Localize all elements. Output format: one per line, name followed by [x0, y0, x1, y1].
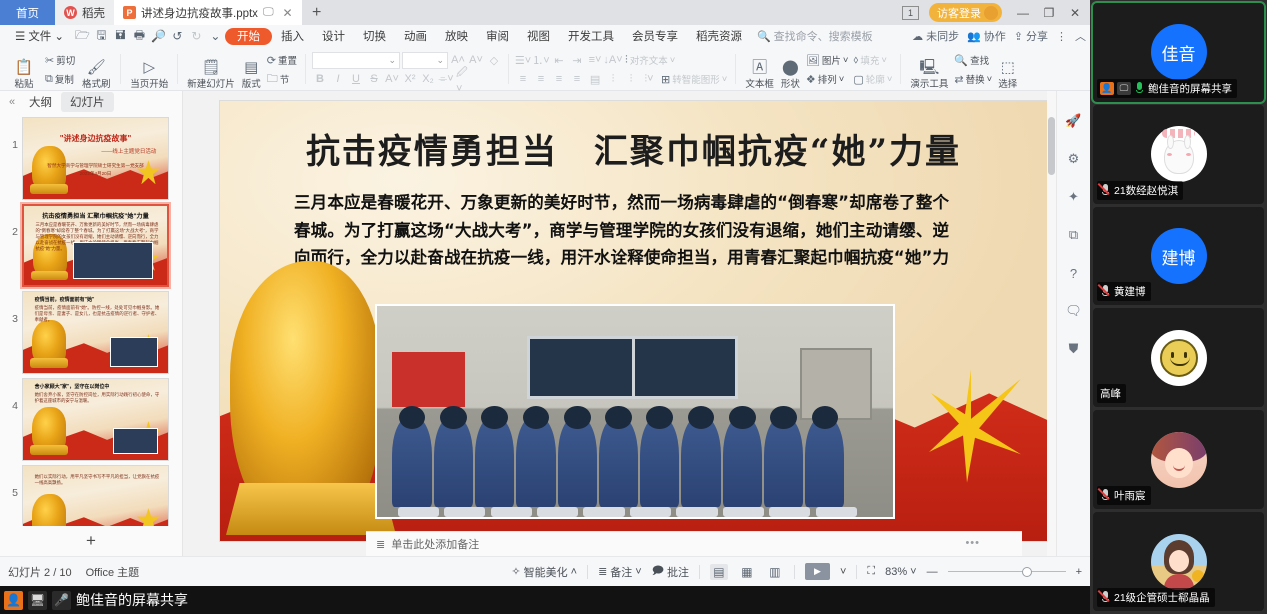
select-icon: ⬚: [1001, 60, 1015, 75]
thumbnail-row[interactable]: 4 舍小家顾大"家"，坚守在以岗位中 她们舍弃小家，坚守在防控岗位，用实际行动践…: [0, 374, 182, 461]
divider: [177, 54, 178, 84]
slide-thumbnail-3[interactable]: 疫情当前，疫情面前有"她" 疫情当前，疫情面前有“她”。防控一线，处处可见巾帼身…: [22, 291, 169, 374]
hamburger-icon: ☰: [15, 29, 25, 43]
screen-share-icon[interactable]: ⧉: [1064, 225, 1084, 245]
slide-thumbnail-panel: « 大纲 幻灯片 1 "讲述身边抗疫故事" ——线上主题党日活动 智然大学商学与…: [0, 91, 183, 556]
font-group: ⌄ ⌄ A˄ A˅ ◇ B I U S A˅ X² X₂ ⌯˅: [309, 48, 505, 90]
underline-button[interactable]: U: [348, 71, 364, 88]
highlight-icon[interactable]: 🖉˅: [456, 71, 472, 88]
tab-member[interactable]: 会员专享: [623, 27, 687, 45]
char-shading-icon[interactable]: ⌯˅: [438, 71, 454, 88]
format-painter-button[interactable]: 🖌格式刷: [78, 50, 114, 90]
superscript-button[interactable]: X²: [402, 71, 418, 88]
fit-to-window-icon: ⛶: [867, 565, 875, 578]
zoom-slider-knob[interactable]: [1022, 567, 1032, 577]
notes-placeholder: 单击此处添加备注: [391, 536, 479, 552]
normal-view-icon[interactable]: ▤: [710, 564, 728, 580]
current-slide[interactable]: 抗击疫情勇担当 汇聚巾帼抗疫“她”力量 三月本应是春暖花开、万象更新的美好时节，…: [220, 101, 1047, 541]
zoom-in-button[interactable]: +: [1076, 566, 1082, 578]
pptx-file-icon: P: [123, 6, 136, 19]
microphone-muted-icon: [1100, 285, 1111, 298]
align-left-icon[interactable]: ≡: [515, 71, 531, 88]
start-from-current-button[interactable]: ▷当页开始: [127, 50, 171, 90]
thumbnail-number: 1: [4, 117, 18, 151]
avatar: 佳音: [1151, 24, 1207, 80]
collaborate-button[interactable]: 👥协作: [967, 28, 1006, 44]
chevron-down-icon: ˅: [910, 566, 916, 578]
fit-to-window-button[interactable]: ⛶: [867, 565, 875, 578]
thumb-meta2: 2022年4月20日: [23, 171, 168, 177]
open-icon[interactable]: 🗁: [73, 27, 92, 45]
save-as-icon[interactable]: 🖬: [111, 27, 130, 45]
line-spacing-icon[interactable]: ≡˅: [587, 52, 603, 69]
play-circle-icon: ▷: [143, 60, 155, 75]
tab-slideshow[interactable]: 放映: [436, 27, 477, 45]
smartart-icon: ⊞: [661, 73, 670, 86]
notes-icon: ≣: [598, 565, 607, 578]
tab-outline[interactable]: 大纲: [20, 92, 61, 112]
drawing-group: 🄰文本框 ⬤形状 🖼图片˅ ❖排列˅ ⬨填充˅ ▢轮廓˅: [739, 48, 897, 90]
align-text-button[interactable]: ⫶对齐文本˅: [623, 52, 677, 69]
guest-login-button[interactable]: 访客登录: [929, 3, 1002, 22]
zoom-slider[interactable]: [948, 565, 1066, 579]
paste-button[interactable]: 📋粘贴: [6, 50, 42, 90]
section-icon: 🗀: [267, 70, 278, 89]
font-size-input[interactable]: ⌄: [402, 52, 448, 69]
collapse-panel-icon[interactable]: «: [4, 96, 20, 108]
clipboard-group: 📋粘贴 ✂剪切 ⧉复制 🖌格式刷: [3, 48, 117, 90]
arrange-button[interactable]: ❖排列˅: [804, 71, 851, 88]
golden-lion-decoration: [230, 261, 380, 521]
magic-beautify-icon: ✧: [511, 565, 520, 578]
window-controls: 1 访客登录 — ❐ ✕: [902, 0, 1090, 25]
search-placeholder: 查找命令、搜索模板: [774, 28, 873, 44]
tab-resources[interactable]: 稻壳资源: [687, 27, 751, 45]
minimize-button[interactable]: —: [1010, 0, 1036, 25]
collapse-ribbon-icon[interactable]: ︿: [1075, 28, 1086, 44]
paste-icon: 📋: [15, 60, 34, 75]
participant-label: 高峰: [1097, 384, 1126, 403]
smiley-icon: [1160, 339, 1198, 377]
play-dropdown-icon[interactable]: ˅: [840, 566, 846, 578]
thumbnail-number: 2: [4, 204, 18, 238]
new-slide-icon: 🗒: [201, 60, 220, 75]
tab-view[interactable]: 视图: [518, 27, 559, 45]
microphone-icon[interactable]: 🎤: [52, 591, 71, 610]
tab-slides[interactable]: 幻灯片: [61, 92, 114, 112]
comment-icon: 🗩: [652, 562, 664, 581]
undo-icon[interactable]: ↺: [168, 27, 187, 45]
right-tool-rail: 🚀 ⚙ ✦ ⧉ ? 🗨 ⛊: [1056, 91, 1090, 556]
align-center-icon[interactable]: ≡: [533, 71, 549, 88]
convert-smartart-button[interactable]: ⊞转智能图形˅: [659, 71, 729, 88]
microphone-muted-icon: [1100, 489, 1111, 502]
search-icon: 🔍: [954, 54, 968, 67]
zoom-out-button[interactable]: —: [927, 566, 938, 578]
print-preview-icon[interactable]: 🔎: [149, 27, 168, 45]
numbering-icon[interactable]: ⒈˅: [533, 52, 549, 69]
thumb-photo: [73, 242, 153, 278]
align-right-icon[interactable]: ≡: [551, 71, 567, 88]
slide-thumbnail-2[interactable]: 抗击疫情勇担当 汇聚巾帼抗疫"她"力量 三月本应是春暖花开、万象更新的美好时节，…: [22, 204, 169, 287]
chevron-up-icon: ˄: [571, 566, 577, 578]
wps-logo-icon: W: [64, 6, 77, 19]
brush-icon: 🖌: [87, 60, 106, 75]
more-options-icon[interactable]: ⋮: [1056, 30, 1067, 43]
participant-label: 21数经赵悦淇: [1097, 181, 1183, 200]
document-tab-pptx[interactable]: P 讲述身边抗疫故事.pptx 🖵 ✕: [114, 0, 302, 25]
slideshow-group: ▷当页开始: [124, 48, 174, 90]
close-icon[interactable]: ✕: [283, 6, 293, 20]
participant-tile-4[interactable]: 叶雨宸: [1093, 410, 1264, 509]
vertical-scrollbar[interactable]: [1047, 91, 1056, 556]
participant-name: 黄建博: [1114, 284, 1146, 299]
scissors-icon: ✂: [45, 54, 54, 67]
document-tab-label: 稻壳: [82, 5, 105, 21]
sort-icon[interactable]: ↓A˅: [605, 52, 621, 69]
slide-thumbnail-5[interactable]: 她们以实际行动，用平凡坚守书写不平凡的担当，让党旗在抗疫一线高高飘扬。: [22, 465, 169, 526]
ribbon-menu-bar: ☰ 文件 ⌄ 🗁 🖫 🖬 🖶 🔎 ↺ ↻ ⌄ 开始 插入 设计 切换 动画 放映…: [0, 25, 1090, 47]
tab-cast-icon[interactable]: 🖵: [263, 6, 274, 19]
notes-pane[interactable]: ≣ 单击此处添加备注 •••: [366, 531, 1022, 556]
participant-name: 叶雨宸: [1114, 488, 1146, 503]
paragraph-group: ☰˅ ⒈˅ ⇤ ⇥ ≡˅ ↓A˅ ⫶对齐文本˅ ≡ ≡ ≡ ≡ ▤: [512, 48, 732, 90]
replace-button[interactable]: ⇄替换˅: [952, 71, 994, 88]
close-button[interactable]: ✕: [1062, 0, 1088, 25]
slide-canvas-area[interactable]: 抗击疫情勇担当 汇聚巾帼抗疫“她”力量 三月本应是春暖花开、万象更新的美好时节，…: [183, 91, 1056, 556]
indent-less-icon[interactable]: ⫶˅: [641, 71, 657, 88]
slide-title[interactable]: 抗击疫情勇担当 汇聚巾帼抗疫“她”力量: [220, 124, 1047, 173]
collaborate-icon: 👥: [967, 30, 981, 43]
add-slide-button[interactable]: +: [0, 526, 182, 556]
presentation-tools-button[interactable]: 🖳演示工具: [907, 50, 951, 90]
meeting-participant-panel: 佳音 👤 🖵 鲍佳音的屏幕共享 21数经赵悦淇 建博: [1090, 0, 1267, 614]
settings-sliders-icon[interactable]: ⚙: [1064, 149, 1084, 169]
slide-sorter-icon[interactable]: ▦: [738, 564, 756, 580]
editor-body: « 大纲 幻灯片 1 "讲述身边抗疫故事" ——线上主题党日活动 智然大学商学与…: [0, 91, 1090, 556]
magic-wand-icon[interactable]: ✦: [1064, 187, 1084, 207]
play-button[interactable]: ▶: [805, 563, 830, 580]
thumb-photo: [110, 337, 158, 366]
outline-icon: ▢: [853, 73, 863, 86]
italic-button[interactable]: I: [330, 71, 346, 88]
thumb-title: 疫情当前，疫情面前有"她": [35, 296, 95, 303]
section-button[interactable]: 🗀节: [265, 71, 299, 88]
thumb-title: "讲述身边抗疫故事": [23, 133, 168, 144]
participant-tile-3[interactable]: 高峰: [1093, 308, 1264, 407]
align-text-icon: ⫶: [625, 54, 628, 67]
participant-label: 叶雨宸: [1097, 486, 1151, 505]
clear-format-icon[interactable]: ◇: [486, 52, 502, 69]
justify-icon[interactable]: ≡: [569, 71, 585, 88]
notes-icon: ≣: [376, 538, 385, 551]
increase-indent-icon[interactable]: ⇥: [569, 52, 585, 69]
avatar: 建博: [1151, 228, 1207, 284]
tab-animation[interactable]: 动画: [395, 27, 436, 45]
decrease-indent-icon[interactable]: ⇤: [551, 52, 567, 69]
chevron-down-icon: ˅: [635, 566, 641, 578]
slides-group: 🗒新建幻灯片 ▤版式 ⟳重置 🗀节: [181, 48, 302, 90]
font-name-input[interactable]: ⌄: [312, 52, 400, 69]
thumb-title: 抗击疫情勇担当 汇聚巾帼抗疫"她"力量: [24, 211, 167, 220]
avatar: [1151, 330, 1207, 386]
divider: [735, 54, 736, 84]
search-icon: 🔍: [757, 30, 771, 43]
participant-name: 鲍佳音的屏幕共享: [1148, 81, 1232, 96]
cloud-sync-status[interactable]: ☁未同步: [912, 28, 959, 44]
thumbnail-number: 5: [4, 465, 18, 499]
select-button[interactable]: ⬚选择: [995, 50, 1020, 90]
thumbnail-row[interactable]: 2 抗击疫情勇担当 汇聚巾帼抗疫"她"力量 三月本应是春暖花开、万象更新的美好时…: [0, 200, 182, 287]
document-tab-daoke[interactable]: W 稻壳: [55, 0, 114, 25]
subscript-button[interactable]: X₂: [420, 71, 436, 88]
share-button[interactable]: ⇪分享: [1014, 28, 1048, 44]
thumbnail-row[interactable]: 5 她们以实际行动，用平凡坚守书写不平凡的担当，让党旗在抗疫一线高高飘扬。: [0, 461, 182, 526]
divider: [900, 54, 901, 84]
lion-base-decoration: [226, 483, 396, 535]
notes-more-icon[interactable]: •••: [965, 537, 980, 549]
avatar: [1151, 432, 1207, 488]
layout-icon: ▤: [244, 60, 258, 75]
screen-root: 首页 W 稻壳 P 讲述身边抗疫故事.pptx 🖵 ✕ + 1 访客登录 — ❐: [0, 0, 1267, 614]
avatar: [984, 6, 998, 20]
tab-design[interactable]: 设计: [313, 27, 354, 45]
security-icon[interactable]: ⛊: [1064, 339, 1084, 359]
share-icon: ⇪: [1014, 30, 1023, 43]
outline-button[interactable]: ▢轮廓˅: [851, 71, 894, 88]
tab-review[interactable]: 审阅: [477, 27, 518, 45]
copy-button[interactable]: ⧉复制: [43, 71, 77, 88]
reset-icon: ⟳: [267, 54, 276, 67]
notes-toggle-button[interactable]: ≣备注˅: [598, 564, 642, 580]
thumbnail-row[interactable]: 1 "讲述身边抗疫故事" ——线上主题党日活动 智然大学商学与管理学院硕士研究生…: [0, 113, 182, 200]
participant-tile-2[interactable]: 建博 黄建博: [1093, 207, 1264, 306]
shape-icon: ⬤: [782, 60, 799, 75]
zoom-level[interactable]: 83%˅: [885, 566, 916, 578]
slide-counter: 幻灯片 2 / 10: [8, 564, 72, 580]
search-input[interactable]: 🔍 查找命令、搜索模板: [757, 28, 873, 44]
microphone-icon: [1134, 82, 1145, 95]
bold-button[interactable]: B: [312, 71, 328, 88]
thumbnail-number: 3: [4, 291, 18, 325]
ribbon-toolbar: 📋粘贴 ✂剪切 ⧉复制 🖌格式刷 ▷当页开始 🗒新建幻灯片 ▤版式 ⟳重置 🗀节: [0, 47, 1090, 91]
participant-label: 21级企管硕士郗晶晶: [1097, 588, 1215, 607]
participant-name: 21级企管硕士郗晶晶: [1114, 590, 1210, 605]
screen-share-banner: 👤 🖥 🎤 鲍佳音的屏幕共享: [0, 586, 1090, 614]
thumbnail-number: 4: [4, 378, 18, 412]
participant-name: 高峰: [1100, 386, 1121, 401]
feedback-icon[interactable]: 🗨: [1064, 301, 1084, 321]
redo-icon[interactable]: ↻: [187, 27, 206, 45]
customize-toolbar-icon[interactable]: ⌄: [206, 27, 225, 45]
thumb-meta1: 智然大学商学与管理学院硕士研究生第一党支部: [23, 163, 168, 169]
thumb-photo: [113, 428, 158, 454]
strikethrough-button[interactable]: S: [366, 71, 382, 88]
textbox-icon: 🄰: [752, 60, 767, 75]
new-tab-button[interactable]: +: [302, 0, 332, 25]
tab-start[interactable]: 开始: [225, 28, 272, 45]
cloud-sync-icon: ☁: [912, 30, 923, 43]
find-button[interactable]: 🔍查找: [952, 52, 994, 69]
bullets-icon[interactable]: ☰˅: [515, 52, 531, 69]
maximize-button[interactable]: ❐: [1036, 0, 1062, 25]
reset-button[interactable]: ⟳重置: [265, 52, 299, 69]
slide-thumbnail-1[interactable]: "讲述身边抗疫故事" ——线上主题党日活动 智然大学商学与管理学院硕士研究生第一…: [22, 117, 169, 200]
text-effect-button[interactable]: A˅: [384, 71, 400, 88]
participant-icon[interactable]: 👤: [4, 591, 23, 610]
participant-tile-0[interactable]: 佳音 👤 🖵 鲍佳音的屏幕共享: [1093, 3, 1264, 102]
slide-panel-header: « 大纲 幻灯片: [0, 91, 182, 113]
tab-insert[interactable]: 插入: [272, 27, 313, 45]
file-menu[interactable]: ☰ 文件 ⌄: [6, 27, 73, 45]
avatar: [1151, 126, 1207, 182]
reading-view-icon[interactable]: ▥: [766, 564, 784, 580]
microphone-muted-icon: [1100, 591, 1111, 604]
new-slide-button[interactable]: 🗒新建幻灯片: [184, 50, 238, 90]
image-icon: 🖼: [806, 54, 820, 67]
layout-button[interactable]: ▤版式: [239, 50, 264, 90]
window-tab-bar: 首页 W 稻壳 P 讲述身边抗疫故事.pptx 🖵 ✕ + 1 访客登录 — ❐: [0, 0, 1090, 25]
tab-count-badge[interactable]: 1: [902, 6, 919, 20]
chevron-down-icon: ⌄: [54, 29, 64, 43]
copy-icon: ⧉: [45, 73, 53, 86]
slide-thumbnail-4[interactable]: 舍小家顾大"家"，坚守在以岗位中 她们舍弃小家，坚守在防控岗位，用实际行动践行初…: [22, 378, 169, 461]
slide-body-text[interactable]: 三月本应是春暖花开、万象更新的美好时节，然而一场病毒肆虐的“倒春寒”却席卷了整个…: [294, 189, 949, 300]
participant-tile-5[interactable]: 21级企管硕士郗晶晶: [1093, 512, 1264, 611]
divider: [305, 54, 306, 84]
shape-button[interactable]: ⬤形状: [778, 50, 803, 90]
picture-button[interactable]: 🖼图片˅: [804, 52, 851, 69]
thumb-title: 舍小家顾大"家"，坚守在以岗位中: [35, 383, 110, 390]
presentation-tools-icon: 🖳: [919, 60, 939, 75]
wps-presentation-window: 首页 W 稻壳 P 讲述身边抗疫故事.pptx 🖵 ✕ + 1 访客登录 — ❐: [0, 0, 1090, 614]
rocket-icon[interactable]: 🚀: [1064, 111, 1084, 131]
columns-icon[interactable]: ⫶: [605, 71, 621, 88]
indent-more-icon[interactable]: ⫶: [623, 71, 639, 88]
thumbnail-row[interactable]: 3 疫情当前，疫情面前有"她" 疫情当前，疫情面前有“她”。防控一线，处处可见巾…: [0, 287, 182, 374]
microphone-muted-icon: [1100, 184, 1111, 197]
ribbon-right-actions: ☁未同步 👥协作 ⇪分享 ⋮ ︿: [912, 25, 1086, 47]
save-icon[interactable]: 🖫: [92, 27, 111, 45]
fill-button[interactable]: ⬨填充˅: [851, 52, 894, 69]
theme-name[interactable]: Office 主题: [86, 564, 140, 580]
distribute-icon[interactable]: ▤: [587, 71, 603, 88]
thumbnail-list[interactable]: 1 "讲述身边抗疫故事" ——线上主题党日活动 智然大学商学与管理学院硕士研究生…: [0, 113, 182, 526]
print-icon[interactable]: 🖶: [130, 27, 149, 45]
divider: [120, 54, 121, 84]
textbox-button[interactable]: 🄰文本框: [742, 50, 777, 90]
status-right-tools: ✧智能美化˄ ≣备注˅ 🗩批注 ▤ ▦ ▥ ▶ ˅ ⛶ 83%˅ — +: [511, 562, 1082, 581]
thumb-subtitle: ——线上主题党日活动: [101, 147, 156, 155]
participant-tile-1[interactable]: 21数经赵悦淇: [1093, 105, 1264, 204]
smart-beautify-button[interactable]: ✧智能美化˄: [511, 564, 577, 580]
share-banner-text: 鲍佳音的屏幕共享: [76, 590, 188, 610]
tab-developer[interactable]: 开发工具: [559, 27, 623, 45]
participant-icon: 👤: [1100, 82, 1114, 95]
replace-icon: ⇄: [954, 73, 963, 86]
fill-icon: ⬨: [853, 54, 858, 67]
document-tab-label: 讲述身边抗疫故事.pptx: [141, 5, 258, 21]
screen-share-icon[interactable]: 🖥: [28, 591, 47, 610]
tab-transition[interactable]: 切换: [354, 27, 395, 45]
screen-share-icon: 🖵: [1117, 82, 1131, 95]
participant-name: 21数经赵悦淇: [1114, 183, 1178, 198]
home-tab[interactable]: 首页: [0, 0, 55, 25]
participant-label: 黄建博: [1097, 282, 1151, 301]
cut-button[interactable]: ✂剪切: [43, 52, 77, 69]
avatar: [1151, 534, 1207, 590]
arrange-icon: ❖: [806, 73, 816, 86]
help-circle-icon[interactable]: ?: [1064, 263, 1084, 283]
slide-photo[interactable]: [375, 304, 895, 519]
participant-label: 👤 🖵 鲍佳音的屏幕共享: [1097, 79, 1237, 98]
comments-button[interactable]: 🗩批注: [652, 562, 689, 581]
divider: [508, 54, 509, 84]
tools-group: 🖳演示工具 🔍查找 ⇄替换˅ ⬚选择: [904, 48, 1023, 90]
status-bar: 幻灯片 2 / 10 Office 主题 ✧智能美化˄ ≣备注˅ 🗩批注 ▤ ▦…: [0, 556, 1090, 586]
